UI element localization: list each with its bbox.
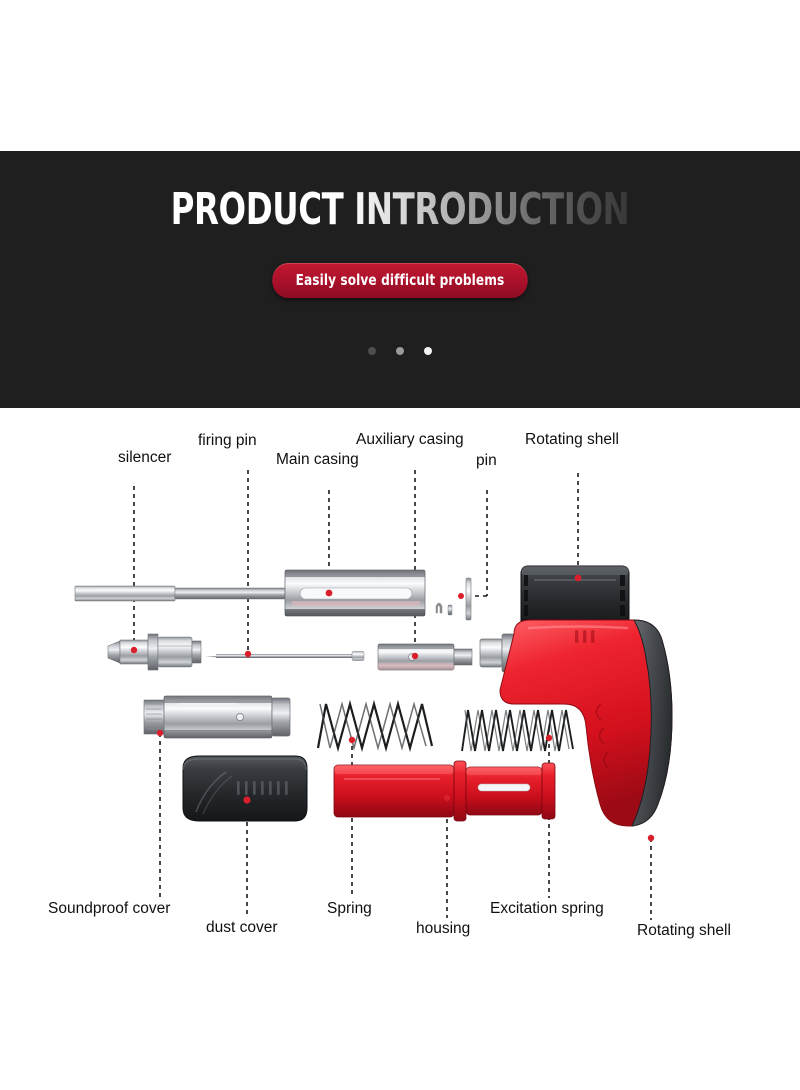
slide-dot-3[interactable] <box>424 347 432 355</box>
tagline-badge: Easily solve difficult problems <box>272 263 528 298</box>
label-spring: Spring <box>327 901 372 917</box>
part-soundproof-cover <box>144 696 290 738</box>
part-firing-pin <box>205 652 364 661</box>
part-housing <box>334 761 555 821</box>
label-main-casing: Main casing <box>276 452 359 468</box>
label-housing: housing <box>416 921 470 937</box>
product-introduction-page: PRODUCT INTRODUCTION Easily solve diffic… <box>0 0 800 1090</box>
label-rotating-shell-bottom: Rotating shell <box>637 923 731 939</box>
part-silencer <box>108 634 201 670</box>
part-main-casing <box>75 570 425 616</box>
diagram-canvas <box>0 408 800 968</box>
label-silencer: silencer <box>118 450 171 466</box>
carousel-dots <box>0 347 800 355</box>
part-auxiliary-casing <box>378 644 472 670</box>
slide-dot-1[interactable] <box>368 347 376 355</box>
label-pin: pin <box>476 453 497 469</box>
top-leader-lines <box>134 470 578 656</box>
page-title: PRODUCT INTRODUCTION <box>72 187 728 233</box>
label-dust-cover: dust cover <box>206 920 278 936</box>
label-firing-pin: firing pin <box>198 433 257 449</box>
label-rotating-shell-top: Rotating shell <box>525 432 619 448</box>
part-pin <box>436 578 471 620</box>
part-excitation-spring <box>462 710 573 751</box>
label-auxiliary-casing: Auxiliary casing <box>356 432 464 448</box>
slide-dot-2[interactable] <box>396 347 404 355</box>
tagline-badge-wrapper: Easily solve difficult problems <box>0 263 800 298</box>
label-soundproof-cover: Soundproof cover <box>48 901 170 917</box>
part-dust-cover <box>183 756 307 821</box>
label-excitation-spring: Excitation spring <box>490 901 604 917</box>
hero-banner: PRODUCT INTRODUCTION Easily solve diffic… <box>0 151 800 408</box>
part-spring <box>318 704 432 748</box>
exploded-parts-diagram: silencer firing pin Main casing Auxiliar… <box>0 408 800 968</box>
